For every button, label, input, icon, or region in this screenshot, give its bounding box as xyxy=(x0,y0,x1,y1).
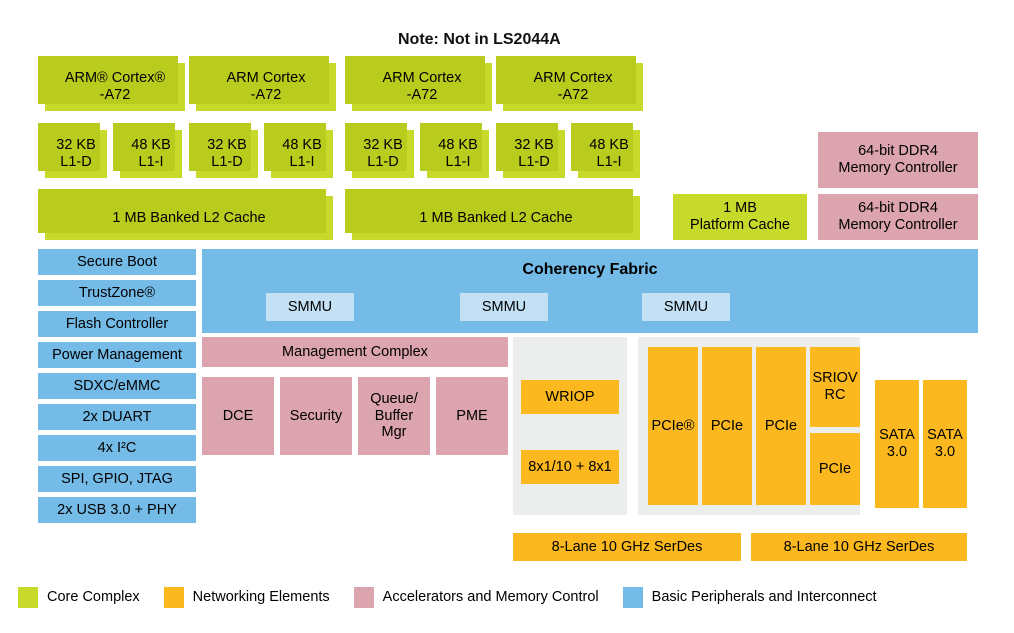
platform-cache: 1 MB Platform Cache xyxy=(673,194,807,240)
legend-label-networking-elements: Networking Elements xyxy=(193,589,330,605)
peripheral-usb: 2x USB 3.0 + PHY xyxy=(38,497,196,523)
legend-label-core-complex: Core Complex xyxy=(47,589,140,605)
peripheral-trustzone: TrustZone® xyxy=(38,280,196,306)
wriop-panel: WRIOP 8x1/10 + 8x1 xyxy=(513,337,627,515)
core-complex-arm-cortex-1: ARM Cortex -A72 xyxy=(196,63,336,111)
legend-item-networking-elements: Networking Elements xyxy=(164,587,330,608)
pcie-panel: PCIe® PCIe PCIe SRIOV RC PCIe xyxy=(638,337,860,515)
sata-block-1: SATA 3.0 xyxy=(923,380,967,508)
sata-block-0: SATA 3.0 xyxy=(875,380,919,508)
l1i-cache-0: 48 KB L1-I xyxy=(120,130,182,178)
accelerator-pme: PME xyxy=(436,377,508,455)
peripheral-spi-gpio-jtag: SPI, GPIO, JTAG xyxy=(38,466,196,492)
legend-label-basic-peripherals: Basic Peripherals and Interconnect xyxy=(652,589,877,605)
legend-item-basic-peripherals: Basic Peripherals and Interconnect xyxy=(623,587,877,608)
management-complex: Management Complex xyxy=(202,337,508,367)
coherency-fabric-title: Coherency Fabric xyxy=(202,261,978,279)
legend-swatch-basic-peripherals xyxy=(623,587,643,608)
peripheral-i2c: 4x I²C xyxy=(38,435,196,461)
peripheral-secure-boot: Secure Boot xyxy=(38,249,196,275)
block-diagram-canvas: Note: Not in LS2044A ARM® Cortex® -A72 A… xyxy=(0,0,1014,633)
pcie-block-1: PCIe xyxy=(702,347,752,505)
l1i-cache-3: 48 KB L1-I xyxy=(578,130,640,178)
accelerator-dce: DCE xyxy=(202,377,274,455)
coherency-fabric: Coherency Fabric SMMU SMMU SMMU xyxy=(202,249,978,333)
l1d-cache-2: 32 KB L1-D xyxy=(352,130,414,178)
peripheral-sdxc-emmc: SDXC/eMMC xyxy=(38,373,196,399)
l1d-cache-1: 32 KB L1-D xyxy=(196,130,258,178)
legend: Core Complex Networking Elements Acceler… xyxy=(18,585,998,609)
peripheral-duart: 2x DUART xyxy=(38,404,196,430)
legend-swatch-networking-elements xyxy=(164,587,184,608)
smmu-2: SMMU xyxy=(642,293,730,321)
wriop-block: WRIOP xyxy=(521,380,619,414)
serdes-block-0: 8-Lane 10 GHz SerDes xyxy=(513,533,741,561)
l1i-cache-2: 48 KB L1-I xyxy=(427,130,489,178)
pcie-block-3: PCIe xyxy=(810,433,860,505)
legend-swatch-core-complex xyxy=(18,587,38,608)
core-complex-arm-cortex-0: ARM® Cortex® -A72 xyxy=(45,63,185,111)
sriov-rc-block: SRIOV RC xyxy=(810,347,860,427)
l1d-cache-0: 32 KB L1-D xyxy=(45,130,107,178)
smmu-0: SMMU xyxy=(266,293,354,321)
core-complex-arm-cortex-3: ARM Cortex -A72 xyxy=(503,63,643,111)
l1d-cache-3: 32 KB L1-D xyxy=(503,130,565,178)
legend-label-accelerators: Accelerators and Memory Control xyxy=(383,589,599,605)
l1i-cache-1: 48 KB L1-I xyxy=(271,130,333,178)
serdes-block-1: 8-Lane 10 GHz SerDes xyxy=(751,533,967,561)
wriop-lanes-block: 8x1/10 + 8x1 xyxy=(521,450,619,484)
smmu-1: SMMU xyxy=(460,293,548,321)
pcie-block-0: PCIe® xyxy=(648,347,698,505)
peripheral-flash-controller: Flash Controller xyxy=(38,311,196,337)
accelerator-security: Security xyxy=(280,377,352,455)
ddr4-memory-controller-1: 64-bit DDR4 Memory Controller xyxy=(818,194,978,240)
ddr4-memory-controller-0: 64-bit DDR4 Memory Controller xyxy=(818,132,978,188)
legend-swatch-accelerators xyxy=(354,587,374,608)
legend-item-core-complex: Core Complex xyxy=(18,587,140,608)
diagram-note: Note: Not in LS2044A xyxy=(398,31,561,49)
peripheral-power-management: Power Management xyxy=(38,342,196,368)
legend-item-accelerators: Accelerators and Memory Control xyxy=(354,587,599,608)
accelerator-queue-buffer-mgr: Queue/ Buffer Mgr xyxy=(358,377,430,455)
l2-cache-1: 1 MB Banked L2 Cache xyxy=(352,196,640,240)
l2-cache-0: 1 MB Banked L2 Cache xyxy=(45,196,333,240)
core-complex-arm-cortex-2: ARM Cortex -A72 xyxy=(352,63,492,111)
pcie-block-2: PCIe xyxy=(756,347,806,505)
